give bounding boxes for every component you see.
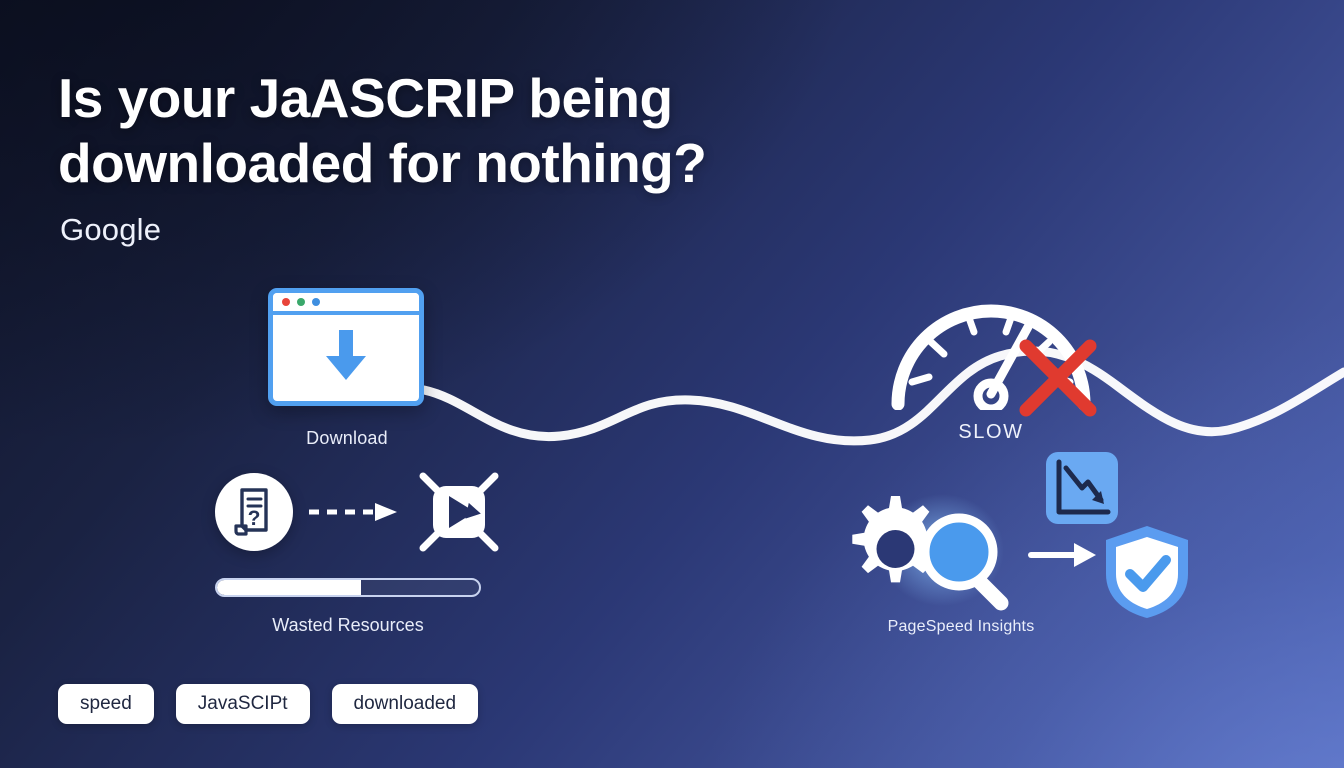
download-block: Download — [268, 288, 426, 449]
red-x-icon — [1016, 336, 1100, 420]
tag-chip[interactable]: downloaded — [332, 684, 478, 724]
document-question-glyph: ? — [230, 486, 278, 538]
shield-check-icon — [1100, 522, 1194, 622]
traffic-light-green-dot — [297, 298, 305, 306]
browser-titlebar — [273, 293, 419, 315]
script-flow-row: ? — [215, 468, 503, 556]
document-question-icon: ? — [215, 473, 293, 551]
traffic-light-red-dot — [282, 298, 290, 306]
slide-canvas: Is your JaASCRIP being downloaded for no… — [0, 0, 1344, 768]
traffic-light-blue-dot — [312, 298, 320, 306]
download-arrow-icon — [320, 328, 372, 384]
page-title: Is your JaASCRIP being downloaded for no… — [58, 66, 818, 196]
gear-magnifier-group — [846, 492, 1046, 612]
right-arrow-icon — [1028, 538, 1100, 572]
tag-chip[interactable]: JavaSCIPt — [176, 684, 310, 724]
script-blocked-icon — [415, 468, 503, 556]
pagespeed-label: PageSpeed Insights — [846, 618, 1076, 636]
dashed-arrow-icon — [307, 499, 399, 525]
pagespeed-insights-block: PageSpeed Insights — [846, 492, 1046, 617]
browser-window-icon — [268, 288, 424, 406]
download-label: Download — [268, 428, 426, 449]
svg-text:?: ? — [248, 507, 261, 530]
browser-content — [273, 315, 419, 397]
progress-bar-track — [215, 578, 481, 597]
declining-chart-icon — [1044, 450, 1120, 526]
wasted-resources-block: Wasted Resources — [215, 578, 481, 636]
speed-gauge-block: SLOW — [888, 282, 1094, 444]
brand-name: Google — [60, 212, 161, 248]
progress-label: Wasted Resources — [215, 615, 481, 636]
gauge-status-label: SLOW — [888, 421, 1094, 444]
tag-chip[interactable]: speed — [58, 684, 154, 724]
progress-bar-fill — [217, 580, 361, 595]
tag-list: speed JavaSCIPt downloaded — [58, 684, 478, 724]
